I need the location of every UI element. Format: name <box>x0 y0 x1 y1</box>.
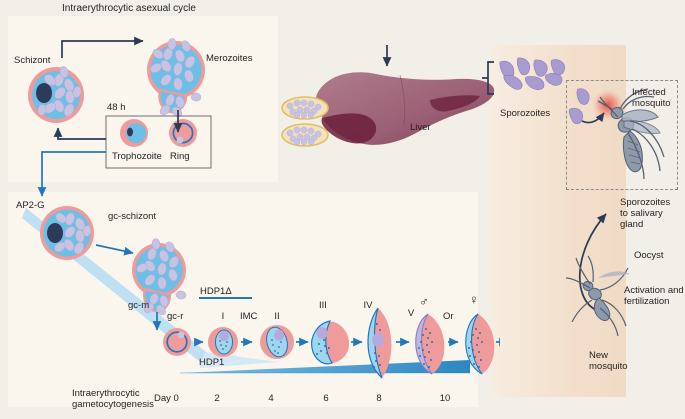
infected-mosquito-label-line1: Infected <box>632 87 666 98</box>
stage-label-V: V <box>404 308 418 319</box>
gc-r-label: gc-r <box>167 311 183 322</box>
timeline-tick-8: 8 <box>364 393 394 404</box>
ring-cell <box>169 119 197 147</box>
timeline-tick-2: 2 <box>202 393 232 404</box>
stage-cell-gcr <box>163 328 191 356</box>
injected-sporozoites <box>569 89 589 124</box>
male-symbol-icon: ♂ <box>419 296 429 307</box>
hdp1-label: HDP1 <box>199 357 224 368</box>
stage-label-IV: IV <box>358 300 378 311</box>
arrow-schizont-to-merozoites <box>62 41 143 58</box>
ap2g-label: AP2-G <box>16 200 45 211</box>
liver-organ <box>316 72 494 145</box>
stage-label-II: II <box>267 311 287 322</box>
oocyst-label: Oocyst <box>634 250 664 261</box>
new-mosquito-icon <box>566 256 630 336</box>
activation-label-2: fertilization <box>624 296 669 307</box>
stage-cell-III <box>312 321 349 364</box>
sporozoites-salivary-label-2: to salivary <box>620 208 663 219</box>
activation-label-1: Activation and <box>624 285 684 296</box>
hdp1-delta-label: HDP1Δ <box>200 286 232 297</box>
sporozoites-salivary-label-1: Sporozoites <box>620 197 670 208</box>
merozoites-label: Merozoites <box>206 53 252 64</box>
gametocytogenesis-title-line2: gametocytogenesis <box>72 399 154 410</box>
timeline-label-day0: Day 0 <box>154 393 179 404</box>
timeline-tick-10: 10 <box>430 393 460 404</box>
gametocytogenesis-title-line1: Intraerythrocytic <box>72 388 140 399</box>
arrow-ring-to-schizont <box>58 128 106 139</box>
new-mosquito-label-1: New <box>589 350 608 361</box>
gc-m-label: gc-m <box>128 300 149 311</box>
sporozoites-label: Sporozoites <box>500 108 550 119</box>
ring-label: Ring <box>170 151 190 162</box>
or-label: Or <box>443 311 454 322</box>
trophozoite-label: Trophozoite <box>112 151 162 162</box>
infected-mosquito-label-line2: mosquito <box>632 98 671 109</box>
sporozoite-shapes <box>500 58 565 90</box>
gc-schizont-cell <box>40 206 94 260</box>
stage-label-I: I <box>213 311 233 322</box>
timeline-tick-6: 6 <box>311 393 341 404</box>
sporozoites-salivary-label-3: gland <box>620 219 643 230</box>
timeline-tick-4: 4 <box>256 393 286 404</box>
gc-schizont-label: gc-schizont <box>108 211 156 222</box>
schizont-cell <box>28 66 84 123</box>
stage-cell-II <box>260 325 294 359</box>
new-mosquito-label-2: mosquito <box>589 361 628 372</box>
liver-label: Liver <box>410 122 431 133</box>
imc-label: IMC <box>240 311 257 322</box>
arrow-gcschizont-to-gcm <box>96 245 133 253</box>
infected-mosquito-graphics <box>560 75 685 200</box>
trophozoite-cell <box>120 119 148 147</box>
female-symbol-icon: ♀ <box>469 294 479 305</box>
liver-schizont-cells <box>282 97 328 146</box>
asexual-cycle-graphics <box>0 0 300 200</box>
arrow-sporozoites-to-liver <box>387 45 493 66</box>
figure-root: Intraerythrocytic asexual cycle <box>0 0 685 419</box>
merozoites-bursting-cell <box>147 38 205 119</box>
stage-cell-I <box>208 327 238 357</box>
schizont-label: Schizont <box>14 55 50 66</box>
sporozoite-bracket <box>488 62 494 94</box>
stage-label-III: III <box>313 300 333 311</box>
stage-cell-V-female <box>466 314 495 374</box>
duration-48h-label: 48 h <box>107 102 126 113</box>
